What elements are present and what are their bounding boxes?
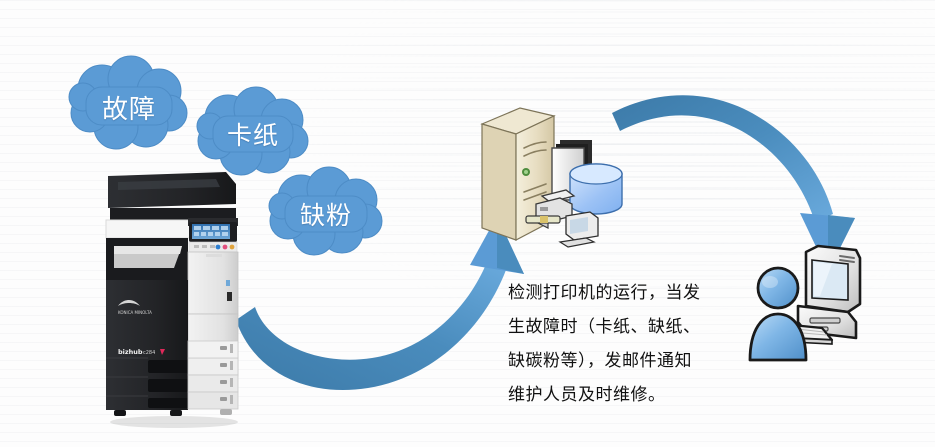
cloud-fault: 故障 — [68, 55, 190, 153]
monitoring-server — [468, 100, 628, 260]
konica-minolta-bizhub-printer: KONICA MINOLTA bizhub c284 — [96, 168, 248, 430]
maintenance-staff-workstation — [748, 242, 898, 377]
cloud-out-of-toner: 缺粉 — [268, 166, 384, 258]
svg-text:c284: c284 — [143, 350, 155, 356]
svg-text:KONICA MINOLTA: KONICA MINOLTA — [118, 310, 152, 315]
cloud-paper-jam: 卡纸 — [196, 86, 310, 178]
slide-canvas: 故障 卡纸 — [0, 0, 935, 447]
description-text: 检测打印机的运行，当发 生故障时（卡纸、缺纸、 缺碳粉等），发邮件通知 维护人员… — [508, 276, 748, 412]
svg-text:bizhub: bizhub — [118, 348, 143, 356]
